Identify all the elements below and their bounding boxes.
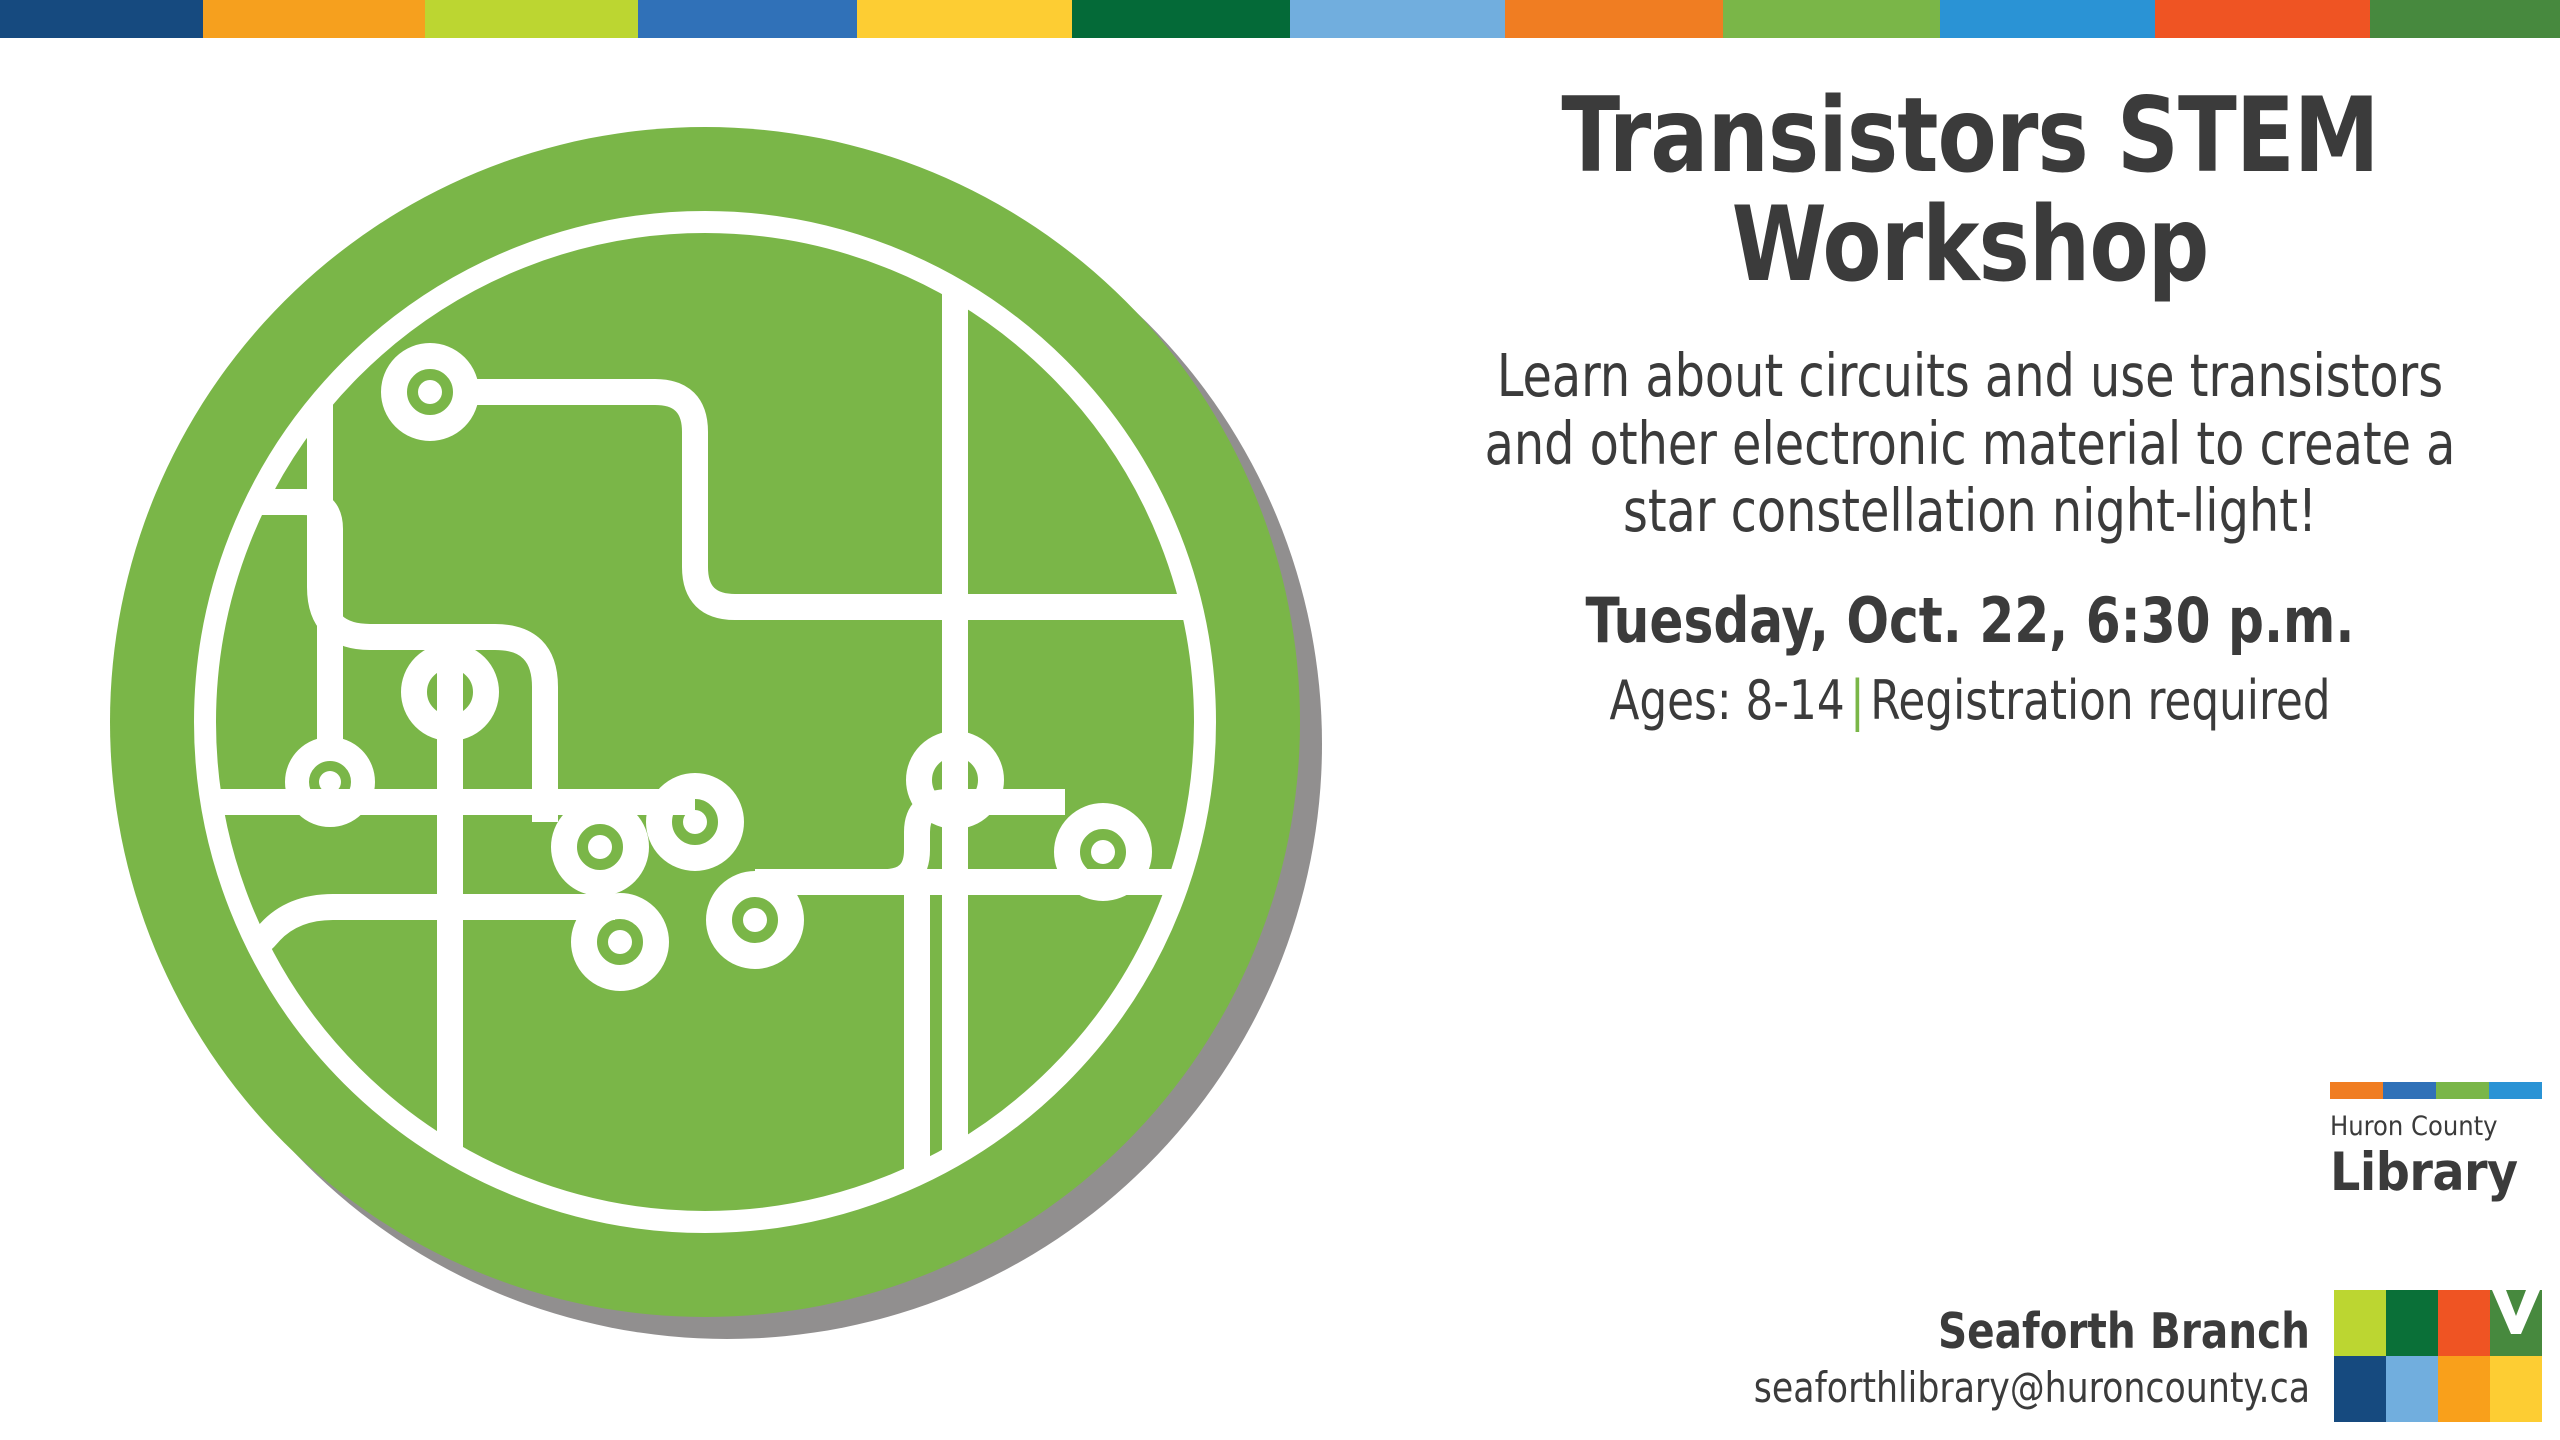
- huron-county-library-logo: Huron County Library: [2330, 1082, 2542, 1199]
- mark-cell-top-dark-green: [2386, 1290, 2438, 1356]
- logo-bar-green: [2436, 1082, 2489, 1099]
- event-description: Learn about circuits and use transistors…: [1439, 342, 2501, 544]
- color-swatch-forest-green: [2370, 0, 2560, 38]
- color-swatch-yellow: [857, 0, 1072, 38]
- mark-cell-top-lime: [2334, 1290, 2386, 1356]
- color-swatch-green: [1723, 0, 1940, 38]
- branch-info: Seaforth Branch seaforthlibrary@huroncou…: [1490, 1306, 2310, 1412]
- registration-label: Registration required: [1870, 669, 2330, 732]
- event-datetime: Tuesday, Oct. 22, 6:30 p.m.: [1439, 590, 2501, 652]
- color-swatch-blue: [638, 0, 856, 38]
- circuit-board-circle-illustration: [55, 62, 1445, 1440]
- huron-county-checker-mark: [2334, 1290, 2542, 1422]
- color-swatch-light-blue: [1290, 0, 1505, 38]
- color-swatch-orange: [203, 0, 425, 38]
- logo-bar-blue: [2383, 1082, 2436, 1099]
- branch-email[interactable]: seaforthlibrary@huroncounty.ca: [1556, 1364, 2310, 1412]
- color-swatch-dark-blue: [0, 0, 203, 38]
- color-swatch-red-orange: [2155, 0, 2370, 38]
- separator-pipe: |: [1845, 669, 1871, 732]
- mark-cell-bottom-yellow: [2490, 1356, 2542, 1422]
- mark-cell-bottom-dark-blue: [2334, 1356, 2386, 1422]
- color-swatch-cyan-blue: [1940, 0, 2155, 38]
- poster-content: Transistors STEM Workshop Learn about ci…: [1380, 60, 2560, 1440]
- brand-color-strip: [0, 0, 2560, 38]
- mark-cell-bottom-light-blue: [2386, 1356, 2438, 1422]
- branch-name: Seaforth Branch: [1556, 1306, 2310, 1357]
- green-disc: [110, 127, 1300, 1317]
- color-swatch-lime: [425, 0, 638, 38]
- color-swatch-dark-green: [1072, 0, 1290, 38]
- mark-cell-bottom-orange: [2438, 1356, 2490, 1422]
- event-poster: Transistors STEM Workshop Learn about ci…: [0, 0, 2560, 1440]
- logo-bar-cyan-blue: [2489, 1082, 2542, 1099]
- logo-line-huron-county: Huron County: [2330, 1113, 2542, 1140]
- page-title: Transistors STEM Workshop: [1421, 82, 2518, 300]
- logo-bar-orange: [2330, 1082, 2383, 1099]
- mark-cell-top-red-orange: [2438, 1290, 2490, 1356]
- color-swatch-deep-orange: [1505, 0, 1723, 38]
- logo-color-bar: [2330, 1082, 2542, 1099]
- ages-and-registration-line: Ages: 8-14|Registration required: [1439, 674, 2501, 728]
- ages-label: Ages: 8-14: [1609, 669, 1844, 732]
- logo-line-library: Library: [2330, 1146, 2542, 1199]
